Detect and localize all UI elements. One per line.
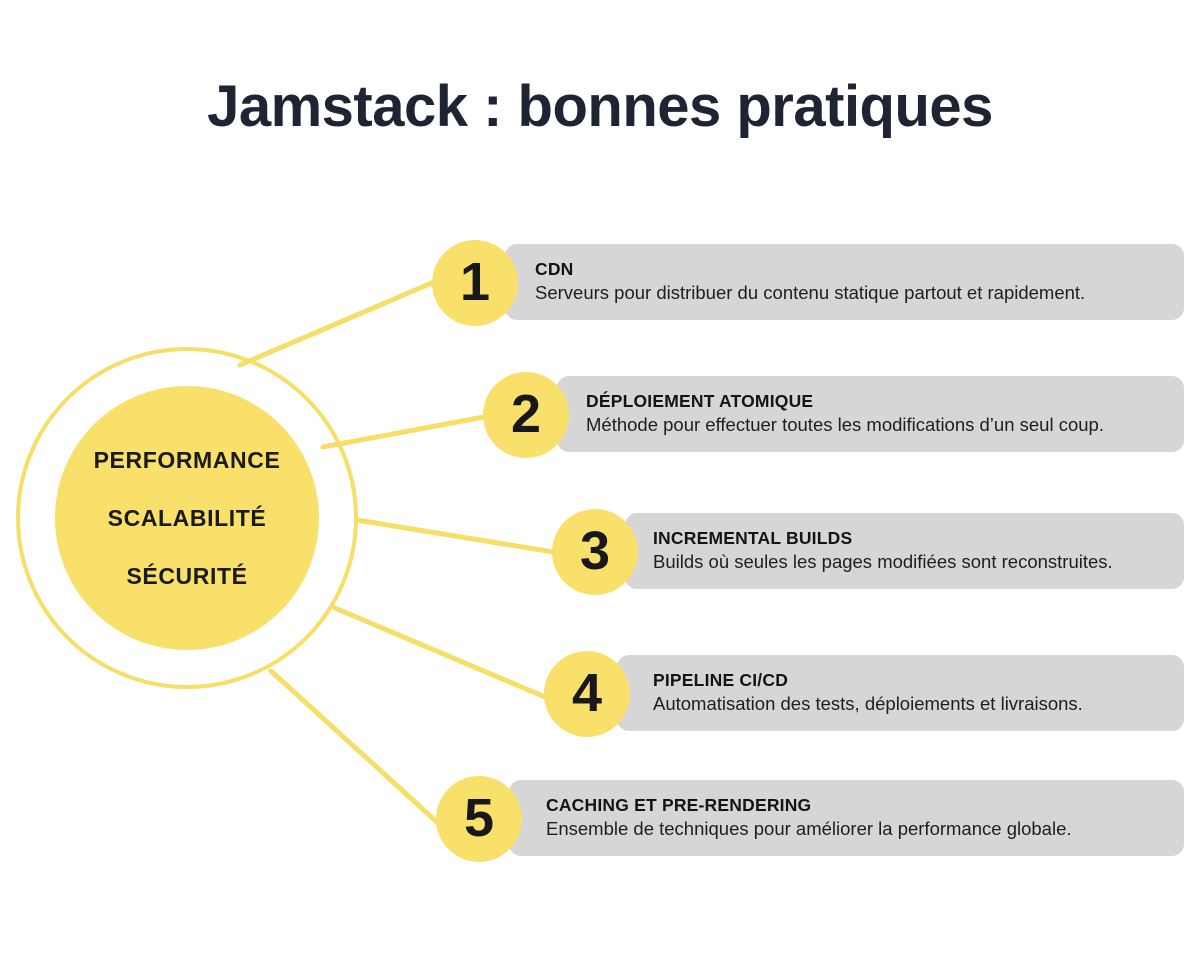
item-text-4: PIPELINE CI/CD Automatisation des tests,… — [653, 669, 1083, 717]
item-title-2: DÉPLOIEMENT ATOMIQUE — [586, 390, 1104, 412]
item-description-3: Builds où seules les pages modifiées son… — [653, 549, 1113, 575]
item-number-badge-3[interactable]: 3 — [552, 509, 638, 595]
item-description-2: Méthode pour effectuer toutes les modifi… — [586, 412, 1104, 438]
hub-label-scalabilite: SCALABILITÉ — [108, 489, 267, 547]
item-number-4: 4 — [572, 666, 602, 720]
infographic-canvas: Jamstack : bonnes pratiques PERFORMANCE … — [0, 0, 1200, 973]
item-text-2: DÉPLOIEMENT ATOMIQUE Méthode pour effect… — [586, 390, 1104, 438]
item-title-4: PIPELINE CI/CD — [653, 669, 1083, 691]
page-title: Jamstack : bonnes pratiques — [0, 72, 1200, 142]
connector-line-1 — [240, 282, 434, 365]
hub-label-performance: PERFORMANCE — [94, 431, 281, 489]
connector-line-3 — [357, 520, 553, 552]
item-text-1: CDN Serveurs pour distribuer du contenu … — [535, 258, 1085, 306]
hub-core-circle: PERFORMANCE SCALABILITÉ SÉCURITÉ — [55, 386, 319, 650]
item-description-5: Ensemble de techniques pour améliorer la… — [546, 816, 1072, 842]
item-description-4: Automatisation des tests, déploiements e… — [653, 691, 1083, 717]
connector-line-2 — [323, 417, 484, 447]
item-number-1: 1 — [460, 255, 490, 309]
item-number-5: 5 — [464, 791, 494, 845]
connector-line-4 — [335, 608, 545, 697]
item-text-5: CACHING ET PRE-RENDERING Ensemble de tec… — [546, 794, 1072, 842]
item-number-badge-4[interactable]: 4 — [544, 651, 630, 737]
item-number-2: 2 — [511, 387, 541, 441]
connector-line-5 — [271, 671, 437, 822]
item-number-badge-5[interactable]: 5 — [436, 776, 522, 862]
item-title-5: CACHING ET PRE-RENDERING — [546, 794, 1072, 816]
item-description-1: Serveurs pour distribuer du contenu stat… — [535, 280, 1085, 306]
item-title-1: CDN — [535, 258, 1085, 280]
item-number-badge-1[interactable]: 1 — [432, 240, 518, 326]
hub-label-securite: SÉCURITÉ — [126, 547, 247, 605]
item-number-3: 3 — [580, 524, 610, 578]
item-title-3: INCREMENTAL BUILDS — [653, 527, 1113, 549]
item-text-3: INCREMENTAL BUILDS Builds où seules les … — [653, 527, 1113, 575]
item-number-badge-2[interactable]: 2 — [483, 372, 569, 458]
